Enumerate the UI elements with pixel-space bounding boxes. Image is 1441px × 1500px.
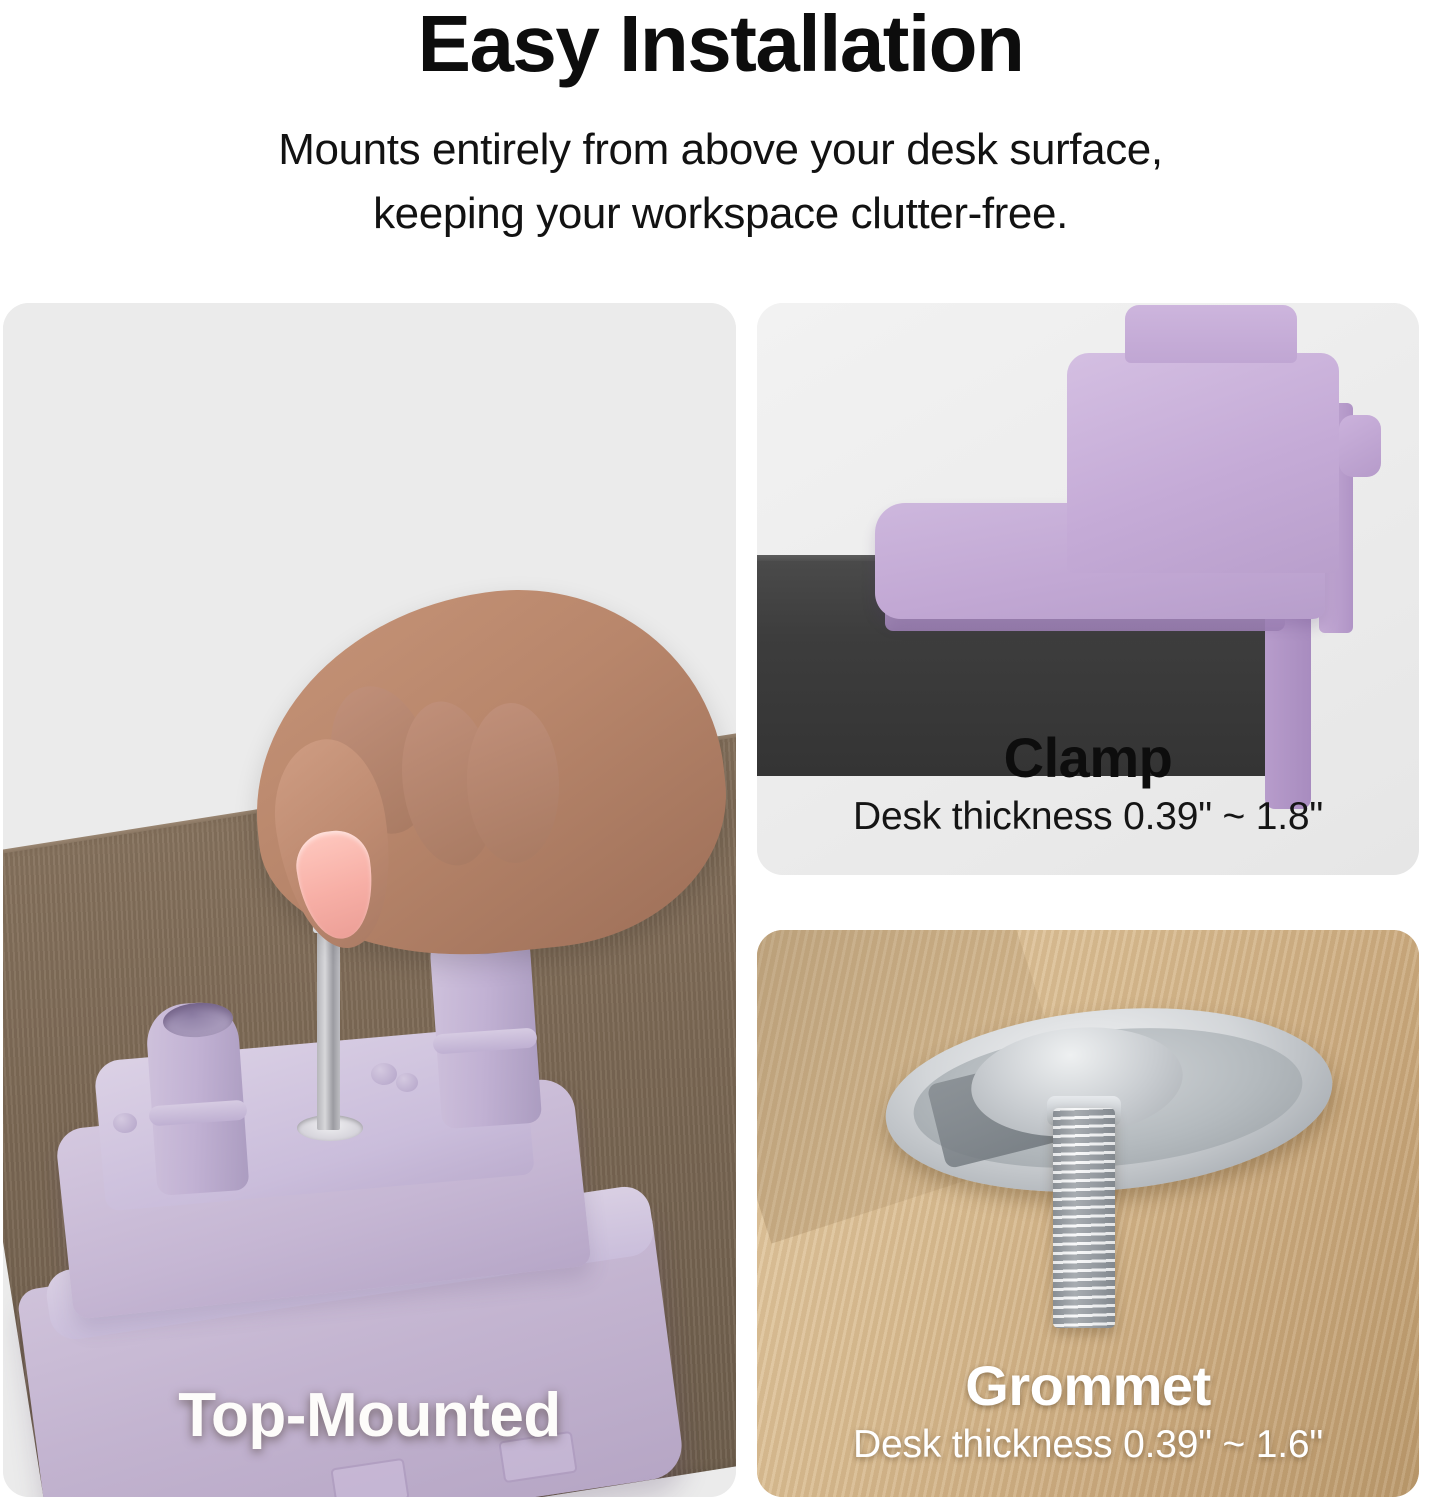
- clamp-neck-collar: [1125, 305, 1297, 363]
- panel-top-mounted: Top-Mounted: [3, 303, 736, 1497]
- base-bump-three: [113, 1113, 137, 1133]
- grommet-caption: Grommet Desk thickness 0.39" ~ 1.6": [757, 1356, 1419, 1467]
- base-bump-two: [396, 1073, 418, 1092]
- panel-grommet: Grommet Desk thickness 0.39" ~ 1.6": [757, 930, 1419, 1497]
- grommet-threaded-bolt: [1053, 1108, 1115, 1328]
- page-subtitle: Mounts entirely from above your desk sur…: [0, 118, 1441, 246]
- panel-clamp: Clamp Desk thickness 0.39" ~ 1.8": [757, 303, 1419, 875]
- subtitle-line-1: Mounts entirely from above your desk sur…: [0, 118, 1441, 182]
- header: Easy Installation Mounts entirely from a…: [0, 0, 1441, 246]
- grommet-desk-thickness: Desk thickness 0.39" ~ 1.6": [757, 1423, 1419, 1467]
- top-mounted-label: Top-Mounted: [3, 1383, 736, 1449]
- top-mounted-caption: Top-Mounted: [3, 1383, 736, 1449]
- clamp-desk-thickness: Desk thickness 0.39" ~ 1.8": [757, 795, 1419, 839]
- clamp-adjust-knob: [1339, 415, 1381, 477]
- top-mounted-column: Top-Mounted: [3, 303, 736, 1497]
- clamp-title: Clamp: [757, 728, 1419, 787]
- clamp-body: [1067, 353, 1339, 573]
- subtitle-line-2: keeping your workspace clutter-free.: [0, 182, 1441, 246]
- base-bump-one: [371, 1063, 397, 1085]
- hex-key-shaft: [317, 915, 340, 1130]
- clamp-caption: Clamp Desk thickness 0.39" ~ 1.8": [757, 728, 1419, 839]
- page-title: Easy Installation: [0, 4, 1441, 84]
- right-column: Clamp Desk thickness 0.39" ~ 1.8" Gromme…: [757, 303, 1419, 1497]
- panel-grid: Top-Mounted Clamp Desk thickness 0.39" ~…: [3, 303, 1438, 1497]
- grommet-title: Grommet: [757, 1356, 1419, 1415]
